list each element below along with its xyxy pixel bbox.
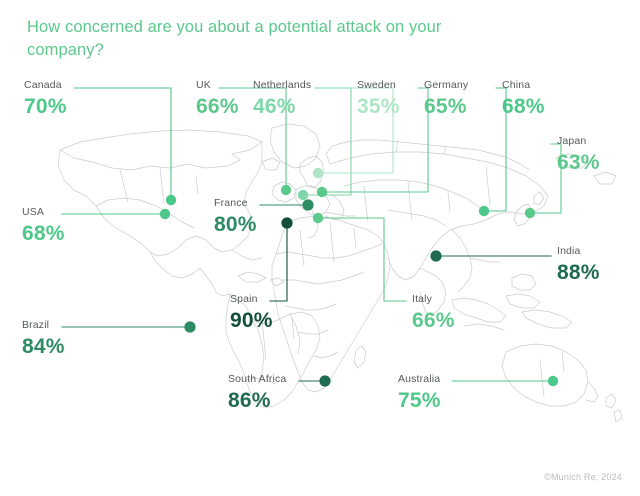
country-label-india: India88%	[557, 246, 600, 284]
country-value-sweden: 35%	[357, 95, 400, 119]
country-value-japan: 63%	[557, 151, 600, 175]
country-label-south-africa: South Africa86%	[228, 374, 286, 412]
country-name-spain: Spain	[230, 294, 273, 306]
country-name-japan: Japan	[557, 136, 600, 148]
country-label-australia: Australia75%	[398, 374, 441, 412]
country-label-sweden: Sweden35%	[357, 80, 400, 118]
country-name-china: China	[502, 80, 545, 92]
country-value-usa: 68%	[22, 222, 65, 246]
country-value-australia: 75%	[398, 389, 441, 413]
country-label-usa: USA68%	[22, 207, 65, 245]
country-label-germany: Germany65%	[424, 80, 468, 118]
country-value-china: 68%	[502, 95, 545, 119]
country-value-france: 80%	[214, 213, 257, 237]
country-name-australia: Australia	[398, 374, 441, 386]
country-label-spain: Spain90%	[230, 294, 273, 332]
country-name-sweden: Sweden	[357, 80, 400, 92]
country-name-brazil: Brazil	[22, 320, 65, 332]
copyright-notice: ©Munich Re, 2024	[544, 472, 622, 482]
country-label-brazil: Brazil84%	[22, 320, 65, 358]
country-label-italy: Italy66%	[412, 294, 455, 332]
country-value-south-africa: 86%	[228, 389, 286, 413]
country-label-france: France80%	[214, 198, 257, 236]
country-value-spain: 90%	[230, 309, 273, 333]
country-value-germany: 65%	[424, 95, 468, 119]
country-value-netherlands: 46%	[253, 95, 311, 119]
country-value-brazil: 84%	[22, 335, 65, 359]
country-name-uk: UK	[196, 80, 239, 92]
country-value-uk: 66%	[196, 95, 239, 119]
page-title: How concerned are you about a potential …	[27, 16, 497, 63]
country-value-canada: 70%	[24, 95, 67, 119]
country-label-japan: Japan63%	[557, 136, 600, 174]
country-name-france: France	[214, 198, 257, 210]
country-name-germany: Germany	[424, 80, 468, 92]
country-value-italy: 66%	[412, 309, 455, 333]
infographic-canvas: How concerned are you about a potential …	[0, 0, 640, 496]
country-name-netherlands: Netherlands	[253, 80, 311, 92]
country-name-italy: Italy	[412, 294, 455, 306]
country-name-usa: USA	[22, 207, 65, 219]
country-value-india: 88%	[557, 261, 600, 285]
country-label-canada: Canada70%	[24, 80, 67, 118]
world-map	[0, 0, 640, 496]
country-label-uk: UK66%	[196, 80, 239, 118]
country-label-netherlands: Netherlands46%	[253, 80, 311, 118]
country-name-south-africa: South Africa	[228, 374, 286, 386]
country-label-china: China68%	[502, 80, 545, 118]
country-name-india: India	[557, 246, 600, 258]
country-name-canada: Canada	[24, 80, 67, 92]
